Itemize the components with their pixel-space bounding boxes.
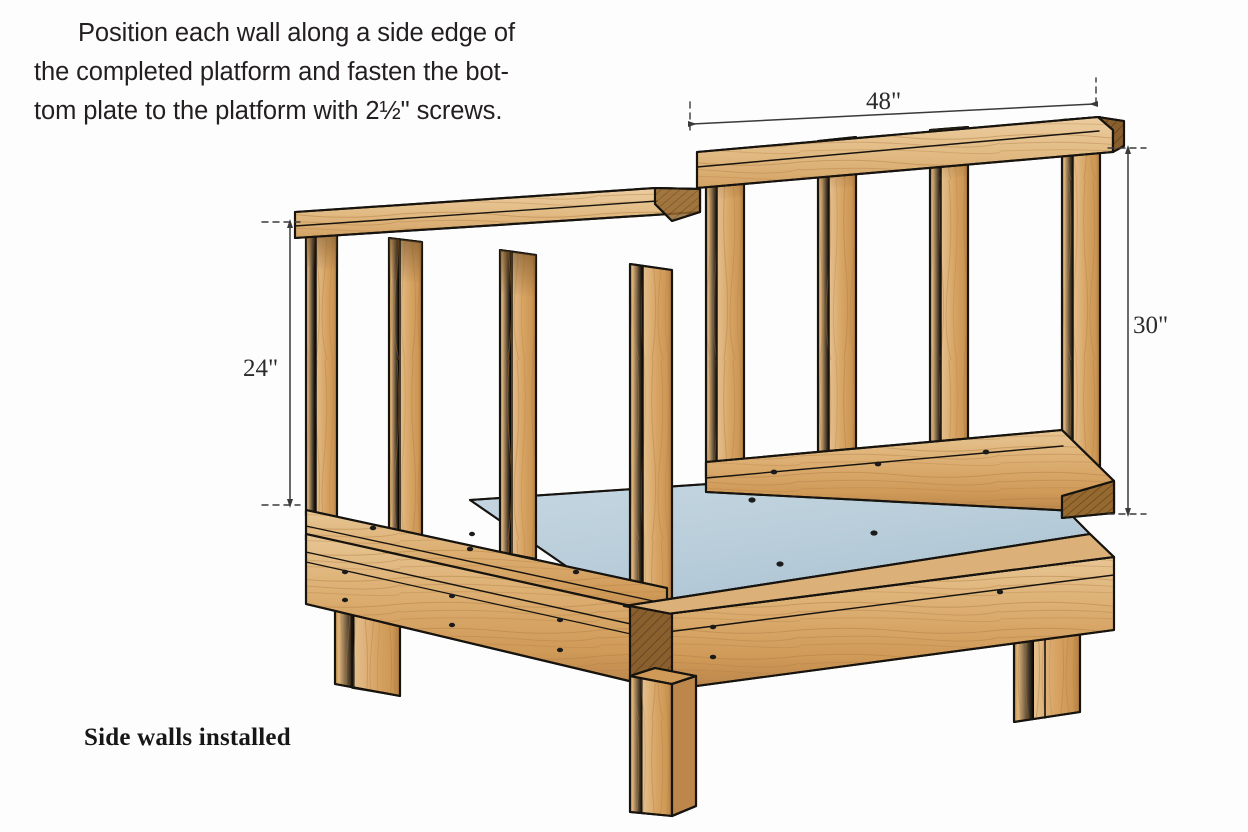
left-wall-stud-1 (306, 228, 337, 520)
dimension-label-48: 48" (866, 88, 901, 116)
left-wall-stud-2 (389, 238, 422, 536)
caption-line-2: the completed platform and fasten the bo… (34, 53, 574, 92)
figure-title: Side walls installed (84, 724, 291, 752)
left-wall-stud-3 (500, 250, 536, 559)
rear-wall-top-plate (697, 117, 1124, 188)
caption-line-3: tom plate to the platform with 2½" screw… (34, 92, 574, 131)
rear-wall-stud-3 (930, 127, 968, 451)
illustration-canvas: Position each wall along a side edge of … (0, 0, 1248, 832)
left-wall-corner-post (630, 264, 672, 614)
left-wall-top-plate (295, 188, 700, 238)
leg-front-center (630, 668, 696, 816)
rear-wall-stud-1 (706, 148, 744, 478)
dimension-label-30: 30" (1133, 312, 1168, 340)
rear-wall-stud-2 (818, 137, 856, 464)
caption-line-1: Position each wall along a side edge of (34, 14, 574, 53)
instruction-caption: Position each wall along a side edge of … (34, 14, 574, 131)
dimension-label-24: 24" (243, 355, 278, 383)
rear-wall-frame (697, 117, 1124, 518)
